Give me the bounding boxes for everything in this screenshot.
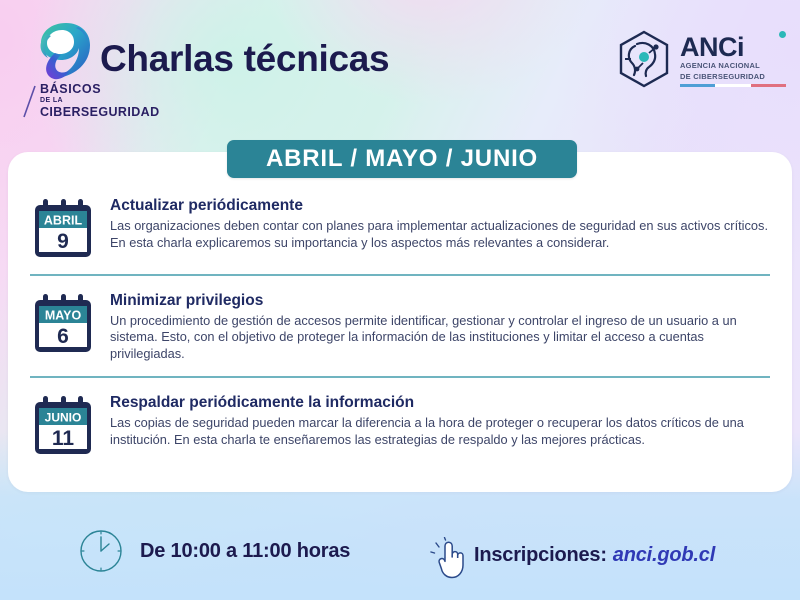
anci-rule-blue [680, 84, 715, 87]
calendar-day-label: 9 [57, 230, 69, 253]
list-item-body: Respaldar periódicamente la información … [110, 391, 770, 448]
list-divider [30, 376, 770, 378]
list-divider [30, 274, 770, 276]
poster-root: BÁSICOS DE LA CIBERSEGURIDAD Charlas téc… [0, 0, 800, 600]
calendar-month-label: JUNIO [45, 410, 82, 424]
anci-logo: ANCi AGENCIA NACIONAL DE CIBERSEGURIDAD [615, 30, 786, 88]
anci-rule-white [715, 84, 750, 87]
brand-line-3: CIBERSEGURIDAD [40, 105, 153, 119]
calendar-month-label: MAYO [45, 308, 82, 322]
anci-text-block: ANCi AGENCIA NACIONAL DE CIBERSEGURIDAD [680, 30, 786, 87]
page-title: Charlas técnicas [100, 38, 389, 80]
list-item-description: Las organizaciones deben contar con plan… [110, 218, 770, 251]
list-item-title: Actualizar periódicamente [110, 196, 770, 216]
anci-rule-red [751, 84, 786, 87]
list-item-body: Minimizar privilegios Un procedimiento d… [110, 289, 770, 363]
schedule-block: De 10:00 a 11:00 horas [78, 528, 350, 574]
footer: De 10:00 a 11:00 horas Inscripciones: an… [0, 495, 800, 600]
anci-subtitle-line-1: AGENCIA NACIONAL [680, 61, 786, 71]
brand-wordmark: BÁSICOS DE LA CIBERSEGURIDAD [18, 83, 153, 119]
anci-hexagon-circuit-logo [615, 30, 673, 88]
list-item-title: Respaldar periódicamente la información [110, 393, 770, 413]
clock-icon [78, 528, 124, 574]
calendar-icon: JUNIO 11 [30, 391, 96, 457]
schedule-label: De 10:00 a 11:00 horas [140, 540, 350, 563]
calendar-month-label: ABRIL [44, 214, 83, 228]
list-item[interactable]: ABRIL 9 Actualizar periódicamente Las or… [8, 194, 792, 260]
calendar-icon: MAYO 6 [30, 289, 96, 355]
calendar-day-label: 6 [57, 325, 69, 348]
brand-line-2: DE LA [40, 96, 153, 105]
month-range-banner: ABRIL / MAYO / JUNIO [227, 140, 577, 178]
calendar-day-label: 11 [52, 427, 75, 450]
list-item-title: Minimizar privilegios [110, 291, 770, 311]
list-item[interactable]: JUNIO 11 Respaldar periódicamente la inf… [8, 391, 792, 457]
registration-url[interactable]: anci.gob.cl [613, 544, 715, 567]
brand-slash-icon [22, 85, 38, 119]
anci-wordmark: ANCi [680, 34, 786, 60]
list-item-description: Las copias de seguridad pueden marcar la… [110, 415, 770, 448]
calendar-icon: ABRIL 9 [30, 194, 96, 260]
anci-wordmark-label: ANCi [680, 32, 744, 62]
registration-block[interactable]: Inscripciones: anci.gob.cl [428, 529, 715, 581]
month-range-label: ABRIL / MAYO / JUNIO [266, 145, 538, 173]
talks-list: ABRIL 9 Actualizar periódicamente Las or… [8, 194, 792, 457]
brand-line-1: BÁSICOS [40, 83, 153, 96]
list-item-description: Un procedimiento de gestión de accesos p… [110, 313, 770, 363]
numeral-nine-gradient-logo [32, 20, 100, 82]
header: BÁSICOS DE LA CIBERSEGURIDAD Charlas téc… [0, 0, 800, 150]
click-hand-cursor-icon [428, 537, 468, 581]
anci-subtitle-line-2: DE CIBERSEGURIDAD [680, 72, 786, 82]
anci-dot-icon [779, 31, 786, 38]
anci-flag-rule [680, 84, 786, 87]
list-item-body: Actualizar periódicamente Las organizaci… [110, 194, 770, 251]
schedule-card: ABRIL 9 Actualizar periódicamente Las or… [8, 152, 792, 492]
registration-label: Inscripciones: [474, 544, 607, 567]
list-item[interactable]: MAYO 6 Minimizar privilegios Un procedim… [8, 289, 792, 363]
